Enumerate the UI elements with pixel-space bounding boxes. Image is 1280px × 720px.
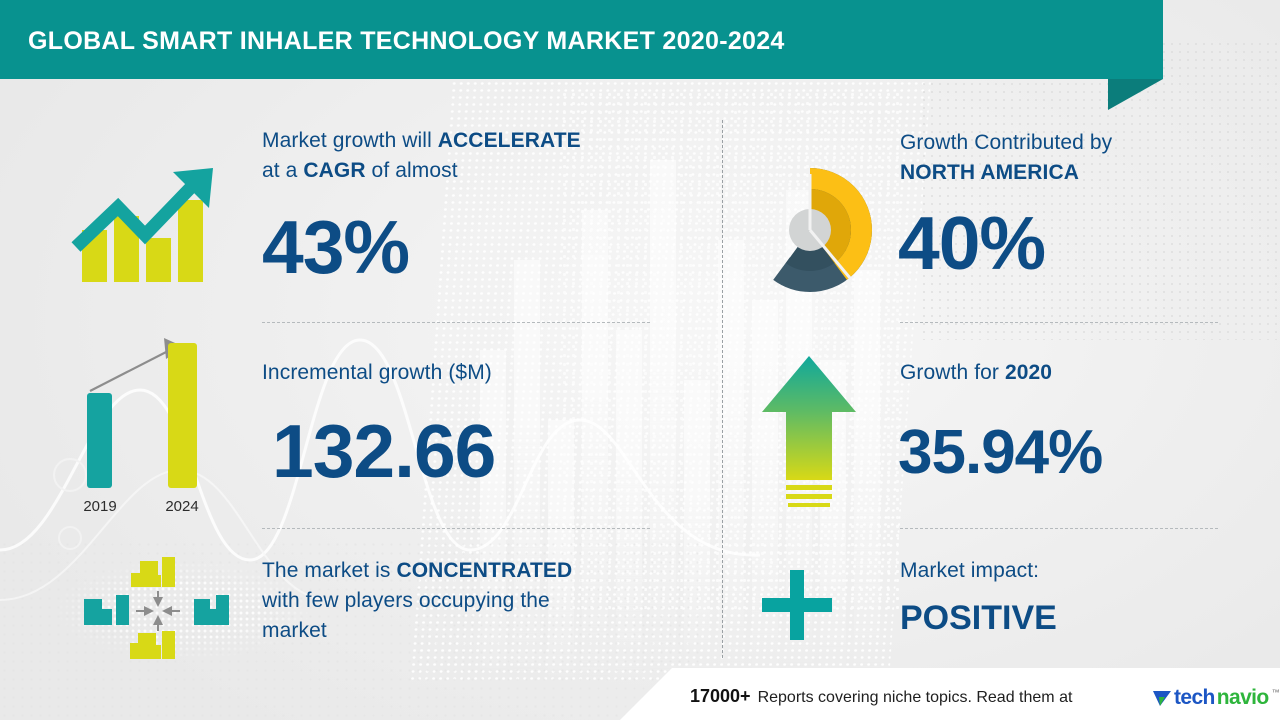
- infographic-page: GLOBAL SMART INHALER TECHNOLOGY MARKET 2…: [0, 0, 1280, 720]
- region-line2-bold: NORTH AMERICA: [900, 161, 1079, 184]
- growth-line2-bold: CAGR: [303, 159, 365, 182]
- logo-trademark: ™: [1272, 688, 1280, 697]
- growth-line2-suffix: of almost: [366, 159, 458, 182]
- concentration-line1-prefix: The market is: [262, 559, 396, 582]
- donut-chart-icon: [746, 166, 874, 294]
- plus-vertical-bar: [790, 570, 804, 640]
- yearly-label-bold: 2020: [1005, 361, 1052, 384]
- concentration-line3: market: [262, 619, 327, 642]
- cagr-value: 43%: [262, 208, 409, 286]
- region-headline: Growth Contributed by NORTH AMERICA: [900, 128, 1230, 188]
- concentration-line2: with few players occupying the: [262, 589, 550, 612]
- left-divider-1: [262, 322, 650, 323]
- background-dot-pattern-right: [920, 40, 1280, 340]
- bar-label-2024: 2024: [153, 498, 211, 515]
- footer-report-count: 17000+: [690, 686, 751, 707]
- growth-arrow-chart-icon: [70, 150, 230, 290]
- yearly-growth-label: Growth for 2020: [900, 358, 1230, 388]
- concentration-headline: The market is CONCENTRATED with few play…: [262, 556, 662, 646]
- two-bar-comparison-icon: 2019 2024: [68, 335, 228, 520]
- yearly-growth-value: 35.94%: [898, 420, 1102, 486]
- column-divider: [722, 120, 723, 658]
- page-title: GLOBAL SMART INHALER TECHNOLOGY MARKET 2…: [28, 27, 785, 56]
- header-banner: GLOBAL SMART INHALER TECHNOLOGY MARKET 2…: [0, 0, 1163, 79]
- growth-headline: Market growth will ACCELERATE at a CAGR …: [262, 126, 662, 186]
- yearly-label-prefix: Growth for: [900, 361, 1005, 384]
- growth-line1-prefix: Market growth will: [262, 129, 438, 152]
- technavio-logo[interactable]: technavio™: [1152, 686, 1280, 710]
- bar-2019: [87, 393, 112, 488]
- growth-line1-bold: ACCELERATE: [438, 129, 581, 152]
- incremental-growth-label: Incremental growth ($M): [262, 358, 662, 388]
- up-arrow-icon: [757, 350, 862, 510]
- bar-2024: [168, 343, 197, 488]
- header-fold-corner: [1108, 79, 1163, 110]
- market-concentration-buildings-icon: [78, 555, 238, 665]
- right-divider-2: [900, 528, 1218, 529]
- concentration-line1-bold: CONCENTRATED: [396, 559, 572, 582]
- bar-label-2019: 2019: [71, 498, 129, 515]
- footer-tagline: Reports covering niche topics. Read them…: [758, 689, 1073, 707]
- market-impact-label: Market impact:: [900, 556, 1230, 586]
- incremental-growth-value: 132.66: [272, 412, 495, 490]
- growth-line2-prefix: at a: [262, 159, 303, 182]
- region-line1: Growth Contributed by: [900, 131, 1112, 154]
- technavio-mark-icon: [1152, 688, 1172, 709]
- footer-content: 17000+ Reports covering niche topics. Re…: [690, 686, 1072, 707]
- market-impact-value: POSITIVE: [900, 598, 1057, 638]
- logo-text-tech: tech: [1174, 686, 1215, 710]
- plus-icon: [762, 570, 832, 640]
- left-divider-2: [262, 528, 650, 529]
- logo-text-navio: navio: [1217, 686, 1269, 710]
- right-divider-1: [900, 322, 1218, 323]
- region-value: 40%: [898, 204, 1045, 282]
